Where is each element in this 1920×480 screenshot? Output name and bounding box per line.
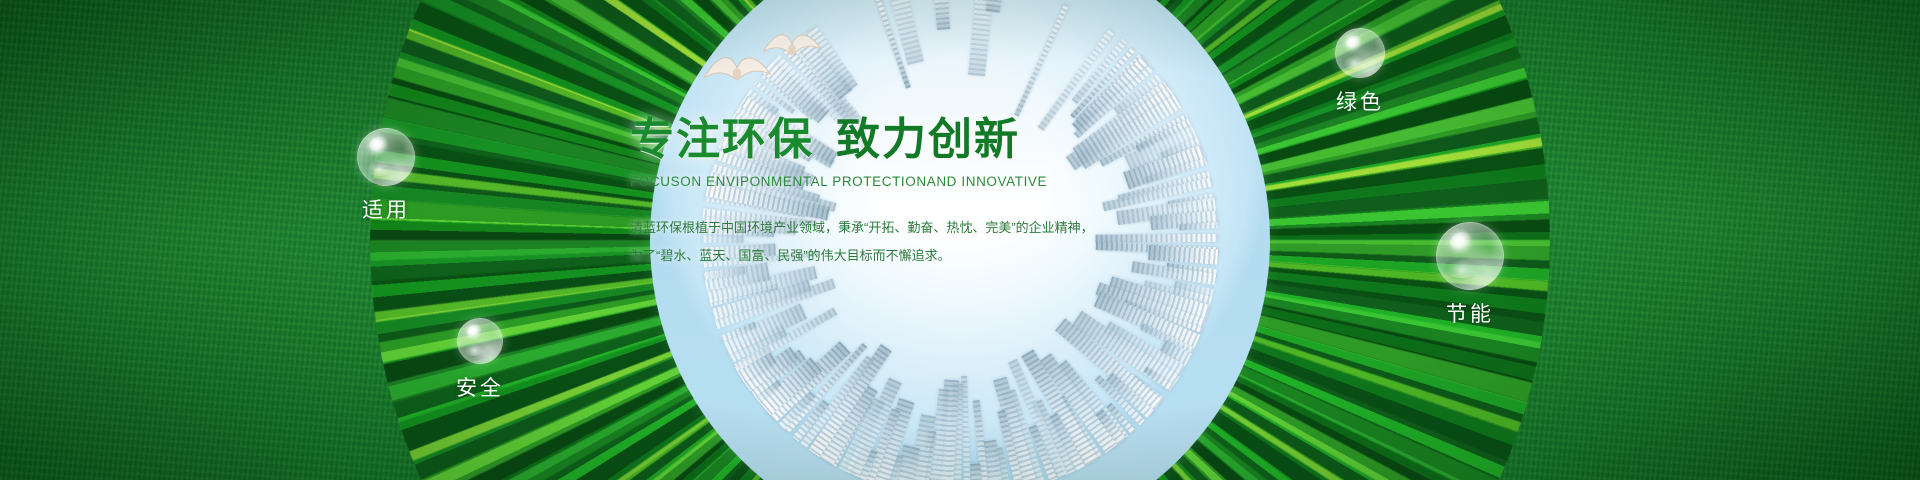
bubble-icon <box>457 318 503 364</box>
subtitle-english: FOCUSON ENVIPONMENTAL PROTECTIONAND INNO… <box>630 174 1090 189</box>
bubble-icon <box>357 128 415 186</box>
feature-jieneng: 节能 <box>1405 222 1535 328</box>
feature-label: 绿色 <box>1300 86 1420 116</box>
headline-primary: 专注环保 <box>630 115 814 164</box>
hero-banner: 专注环保致力创新 FOCUSON ENVIPONMENTAL PROTECTIO… <box>0 0 1920 480</box>
feature-label: 节能 <box>1405 298 1535 328</box>
feature-label: 安全 <box>420 372 540 402</box>
bubble-icon <box>1436 222 1504 290</box>
bubble-icon <box>1335 28 1385 78</box>
paragraph-line-1: 清蓝环保根植于中国环境产业领域，秉承“开拓、勤奋、热忱、完美”的企业精神， <box>630 215 1090 241</box>
paragraph-line-2: 为了“碧水、蓝天、国富、民强”的伟大目标而不懈追求。 <box>630 243 1090 269</box>
feature-anquan: 安全 <box>420 318 540 402</box>
headline-secondary: 致力创新 <box>836 115 1020 164</box>
description-paragraph: 清蓝环保根植于中国环境产业领域，秉承“开拓、勤奋、热忱、完美”的企业精神， 为了… <box>630 215 1090 269</box>
feature-label: 适用 <box>326 194 446 224</box>
feature-shiyong: 适用 <box>326 128 446 224</box>
page-title: 专注环保致力创新 <box>630 118 1090 162</box>
feature-lvse: 绿色 <box>1300 28 1420 116</box>
banner-copy: 专注环保致力创新 FOCUSON ENVIPONMENTAL PROTECTIO… <box>630 118 1090 269</box>
